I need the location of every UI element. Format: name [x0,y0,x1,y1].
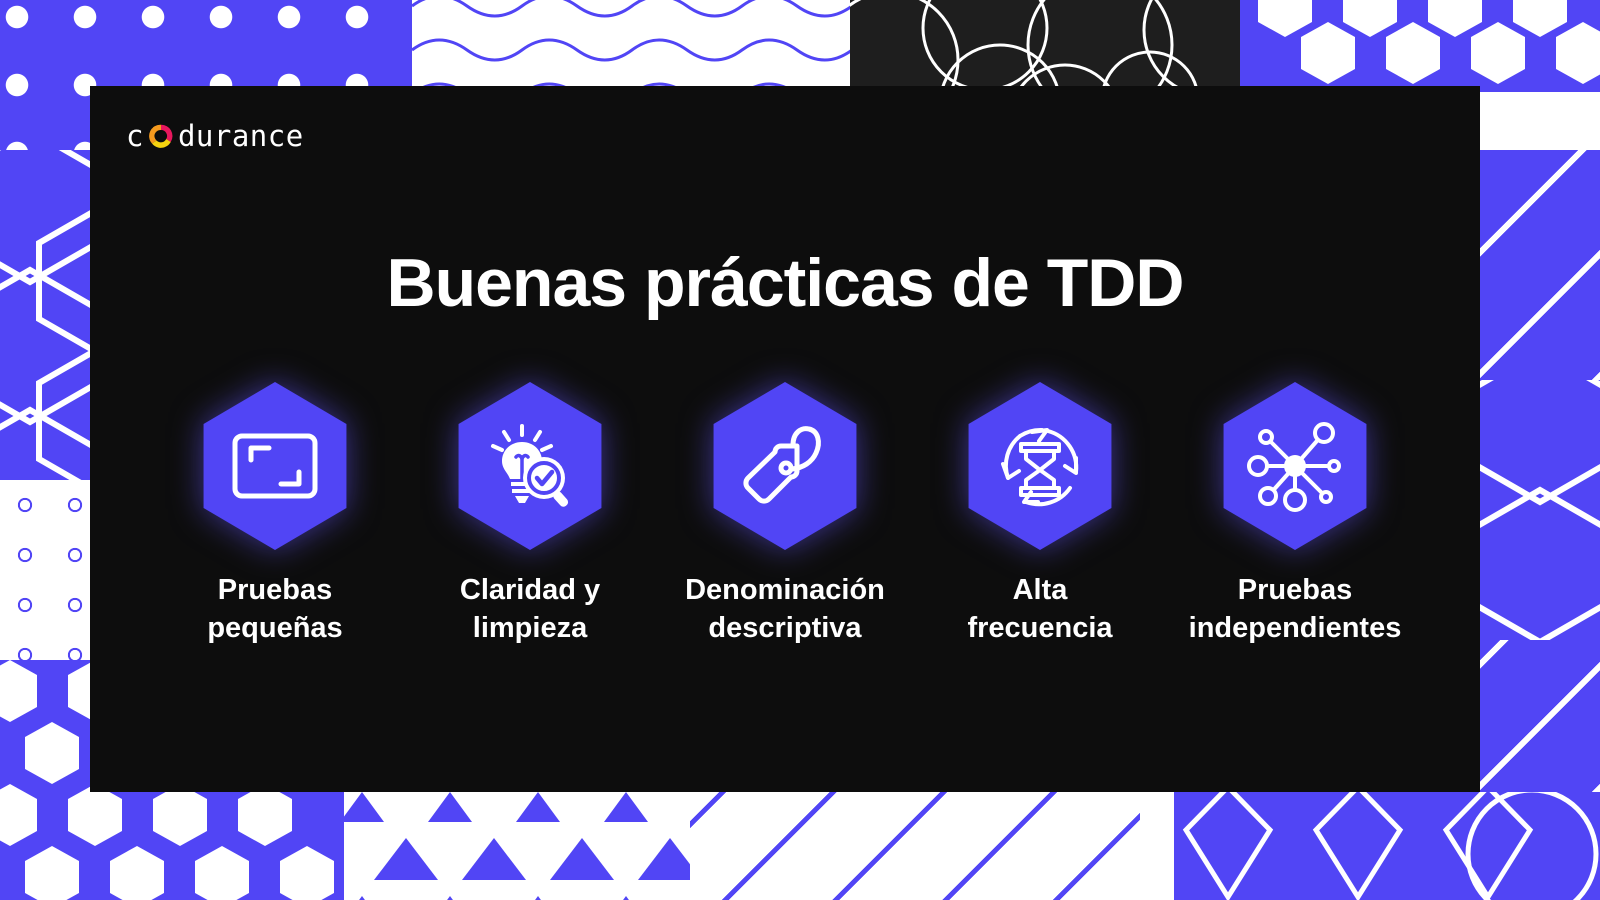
list-item-label: Pruebas pequeñas [207,572,342,647]
overlapping-circles-icon [850,0,1240,92]
hexagon-outlines-icon [0,150,92,480]
codurance-swirl-icon [146,121,176,151]
bg-circles-tile [850,0,1240,92]
list-item[interactable]: Pruebas independientes [1170,382,1420,647]
hourglass-cycle-icon [990,416,1090,516]
hexagon-outlines-icon-right [1480,380,1600,640]
hexagon-badge [1219,382,1371,550]
list-item-label: Claridad y limpieza [460,572,600,647]
bg-diagonal-tile [690,792,1170,900]
diamond-outlines-icon [1170,792,1600,900]
slide-stage: c durance Buenas prácticas de TDD [0,0,1600,900]
network-hub-icon [1245,416,1345,516]
list-item-label: Alta frecuencia [967,572,1112,647]
list-item[interactable]: Pruebas pequeñas [150,382,400,647]
codurance-logo[interactable]: c durance [126,119,304,153]
list-item-label: Denominación descriptiva [685,572,885,647]
bg-triangles-tile [340,792,690,900]
price-tag-icon [735,416,835,516]
bg-chevrons-tile-right [1480,380,1600,640]
frame-brackets-icon [225,416,325,516]
bg-hexagons-tile-top [1240,0,1600,92]
list-item-label: Pruebas independientes [1189,572,1402,647]
page-title: Buenas prácticas de TDD [90,244,1480,322]
hexagon-badge [199,382,351,550]
practice-list: Pruebas pequeñas [150,382,1420,647]
logo-text-end: durance [178,119,304,153]
lightbulb-magnifier-check-icon [480,416,580,516]
list-item[interactable]: Alta frecuencia [915,382,1165,647]
filled-hexagons-icon [1240,0,1600,92]
bg-chevrons-tile-left [0,150,92,480]
bg-white-gap-bottom [1140,792,1174,900]
logo-text-start: c [126,119,144,153]
bg-rings-tile-left [0,480,92,660]
bg-diagonal-white-tile [1480,150,1600,380]
bg-kite-tile [1170,792,1600,900]
bg-waves-tile [412,0,850,92]
list-item[interactable]: Denominación descriptiva [660,382,910,647]
hexagon-badge [454,382,606,550]
hexagon-badge [709,382,861,550]
slide-card: c durance Buenas prácticas de TDD [90,86,1480,792]
list-item[interactable]: Claridad y limpieza [405,382,655,647]
sine-waves-icon [412,0,850,92]
triangles-icon [340,792,690,900]
hexagon-badge [964,382,1116,550]
